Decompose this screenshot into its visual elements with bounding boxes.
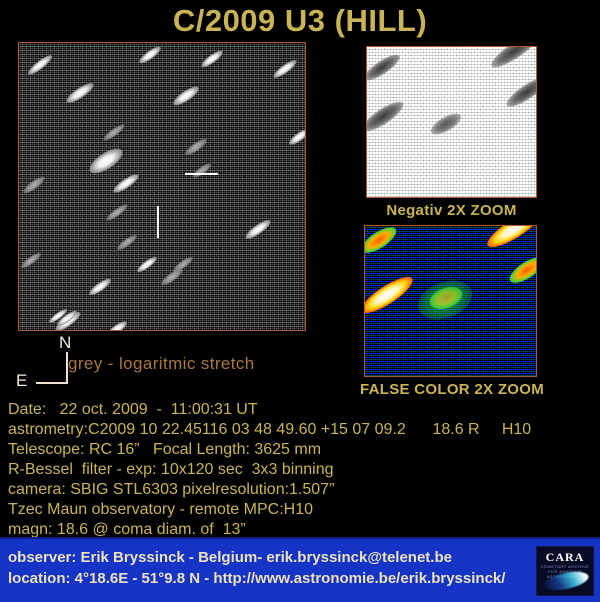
comet-marker-vertical bbox=[157, 206, 159, 238]
false-color-zoom-panel bbox=[364, 225, 537, 377]
grey-noise-background bbox=[19, 43, 305, 330]
observer-footer: observer: Erik Bryssinck - Belgium- erik… bbox=[0, 537, 600, 602]
cara-logo: CARA COMETARY ARCHIVE FOR AMATEUR ASTRON… bbox=[536, 546, 594, 596]
false-color-zoom-caption: FALSE COLOR 2X ZOOM bbox=[352, 381, 552, 398]
negative-zoom-pixels bbox=[367, 47, 536, 197]
image-canvas: C/2009 U3 (HILL) bbox=[0, 0, 600, 600]
observation-details: Date: 22 oct. 2009 - 11:00:31 UT astrome… bbox=[8, 400, 592, 540]
main-field-pixels bbox=[19, 43, 305, 330]
stretch-mode-label: grey - logaritmic stretch bbox=[68, 354, 255, 374]
cara-logo-text: CARA bbox=[537, 550, 593, 565]
compass-north-label: N bbox=[59, 333, 71, 353]
info-line-telescope: Telescope: RC 16” Focal Length: 3625 mm bbox=[8, 440, 592, 460]
negative-zoom-caption: Negativ 2X ZOOM bbox=[366, 202, 537, 219]
main-field-image-panel bbox=[18, 42, 306, 331]
footer-observer-line: observer: Erik Bryssinck - Belgium- erik… bbox=[8, 549, 452, 566]
info-line-astrometry: astrometry:C2009 10 22.45116 03 48 49.60… bbox=[8, 420, 592, 440]
comet-marker-horizontal bbox=[185, 173, 218, 175]
info-line-camera: camera: SBIG STL6303 pixelresolution:1.5… bbox=[8, 480, 592, 500]
compass-east-label: E bbox=[16, 371, 27, 391]
negative-zoom-panel bbox=[366, 46, 537, 198]
info-line-observatory: Tzec Maun observatory - remote MPC:H10 bbox=[8, 500, 592, 520]
info-line-filter: R-Bessel filter - exp: 10x120 sec 3x3 bi… bbox=[8, 460, 592, 480]
false-color-zoom-pixels bbox=[365, 226, 536, 376]
footer-location-line[interactable]: location: 4°18.6E - 51°9.8 N - http://ww… bbox=[8, 570, 505, 587]
info-line-date: Date: 22 oct. 2009 - 11:00:31 UT bbox=[8, 400, 592, 420]
compass-east-line bbox=[36, 382, 68, 384]
page-title: C/2009 U3 (HILL) bbox=[0, 2, 600, 40]
